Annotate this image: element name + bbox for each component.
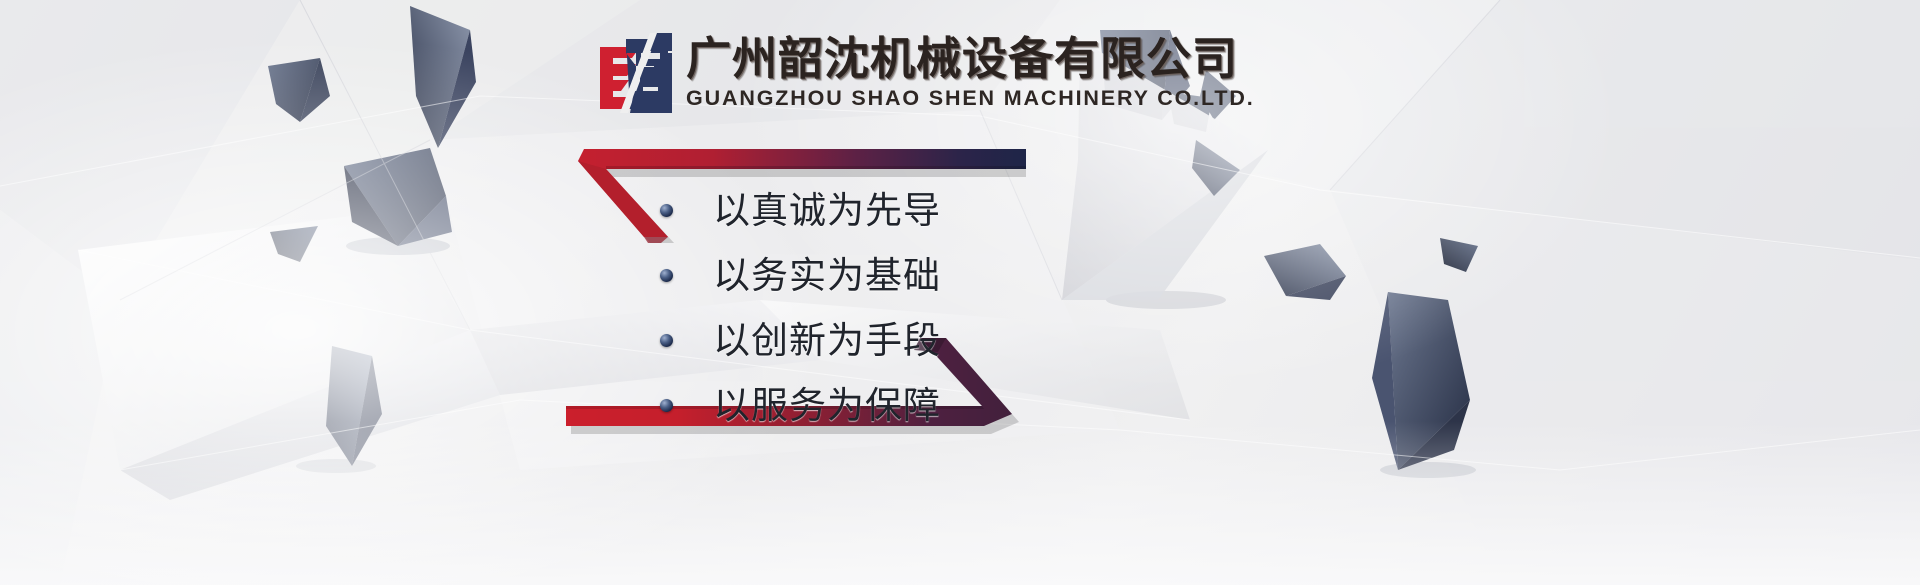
company-name-en: GUANGZHOU SHAO SHEN MACHINERY CO.LTD. <box>686 86 1255 111</box>
ss-monogram-logo-icon <box>596 33 672 113</box>
slogan-list: 以真诚为先导 以务实为基础 以创新为手段 以服务为保障 <box>660 178 1080 438</box>
bullet-sphere-icon <box>660 204 673 217</box>
logo-block: 广州韶沈机械设备有限公司 GUANGZHOU SHAO SHEN MACHINE… <box>596 33 1255 113</box>
list-item: 以创新为手段 <box>660 308 1080 373</box>
slogan-text: 以创新为手段 <box>713 321 941 361</box>
list-item: 以务实为基础 <box>660 243 1080 308</box>
logo-text-group: 广州韶沈机械设备有限公司 GUANGZHOU SHAO SHEN MACHINE… <box>686 33 1255 111</box>
bullet-sphere-icon <box>660 334 673 347</box>
list-item: 以真诚为先导 <box>660 178 1080 243</box>
slogan-text: 以务实为基础 <box>713 256 941 296</box>
company-name-cn: 广州韶沈机械设备有限公司 <box>686 34 1255 84</box>
bullet-sphere-icon <box>660 269 673 282</box>
bullet-sphere-icon <box>660 399 673 412</box>
slogan-text: 以服务为保障 <box>713 386 941 426</box>
company-banner: 广州韶沈机械设备有限公司 GUANGZHOU SHAO SHEN MACHINE… <box>0 0 1920 585</box>
slogan-text: 以真诚为先导 <box>713 191 941 231</box>
list-item: 以服务为保障 <box>660 373 1080 438</box>
